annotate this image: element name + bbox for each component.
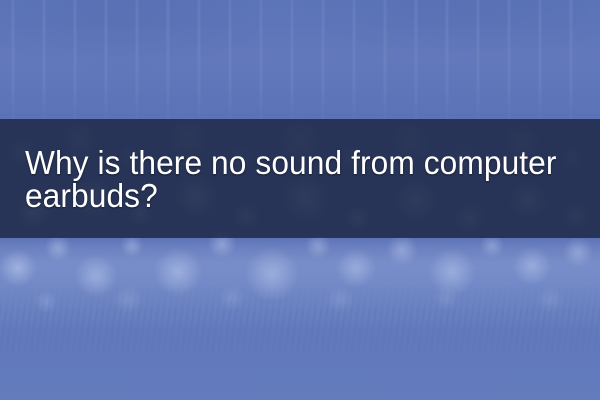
caption-title: Why is there no sound from computer earb… (0, 146, 576, 212)
thumbnail-canvas: Why is there no sound from computer earb… (0, 0, 600, 400)
caption-band: Why is there no sound from computer earb… (0, 119, 600, 238)
